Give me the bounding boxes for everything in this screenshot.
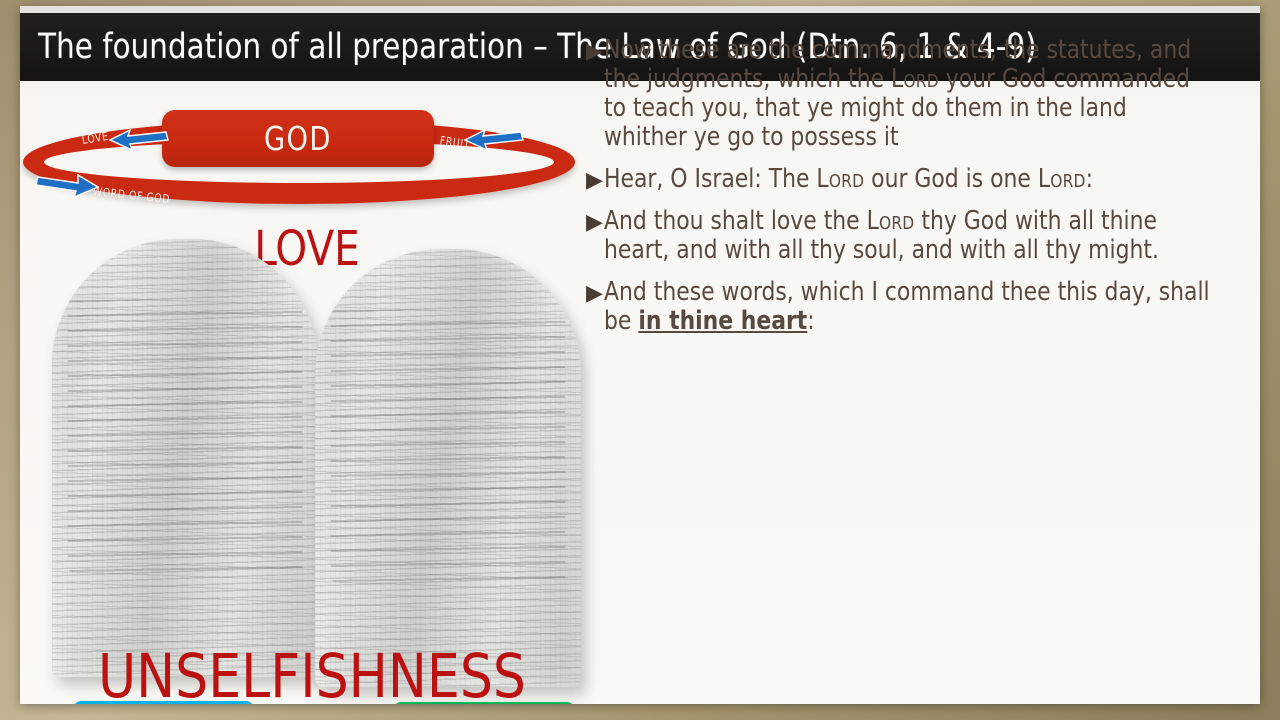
text-run: Hear, O Israel: The [604,164,816,194]
lord-smallcaps: Lord [1038,164,1086,194]
scripture-bullet-in-thine-heart: ▶And these words, which I command thee t… [586,278,1241,336]
lord-smallcaps: Lord [867,206,915,236]
presentation-slide: The foundation of all preparation – The … [20,6,1260,704]
right-arrow-icon [34,174,100,198]
god-label: GOD [264,119,332,158]
scripture-list: ▶Now these are the commandments, the sta… [586,36,1241,349]
god-cycle-diagram: GOD LOVE WORD OF GOD FRUIT [20,106,585,221]
bullet-triangle-icon: ▶ [586,278,603,336]
lord-smallcaps: Lord [816,164,864,194]
diagram-panel: GOD LOVE WORD OF GOD FRUIT LOVE [20,81,600,704]
stone-tablets: TAKE TO GIVE [32,239,592,689]
slide-frame: The foundation of all preparation – The … [0,0,1280,720]
scripture-bullet-commandments: ▶Now these are the commandments, the sta… [586,36,1241,152]
scripture-text: Hear, O Israel: The Lord our God is one … [604,165,1212,194]
stone-tablet-right [315,249,581,687]
scripture-text: And these words, which I command thee th… [604,278,1212,336]
unselfishness-heading: UNSELFISHNESS [46,646,578,704]
bullet-triangle-icon: ▶ [586,165,603,194]
left-arrow-icon [108,129,170,151]
text-run: And thou shalt love the [604,206,867,236]
bullet-triangle-icon: ▶ [586,36,603,152]
emphasis-in-thine-heart: in thine heart [638,306,807,336]
scripture-text: Now these are the commandments, the stat… [604,36,1212,152]
stone-tablet-left [52,239,318,677]
god-box: GOD [162,110,434,167]
bullet-triangle-icon: ▶ [586,207,603,265]
scripture-bullet-hear-o-israel: ▶Hear, O Israel: The Lord our God is one… [586,165,1241,194]
lord-smallcaps: Lord [891,64,939,94]
text-run: : [1086,164,1093,194]
text-run: : [807,306,814,336]
left-arrow-icon [463,129,525,151]
scripture-text: And thou shalt love the Lord thy God wit… [604,207,1212,265]
text-run: our God is one [864,164,1038,194]
scripture-bullet-love-the-lord: ▶And thou shalt love the Lord thy God wi… [586,207,1241,265]
